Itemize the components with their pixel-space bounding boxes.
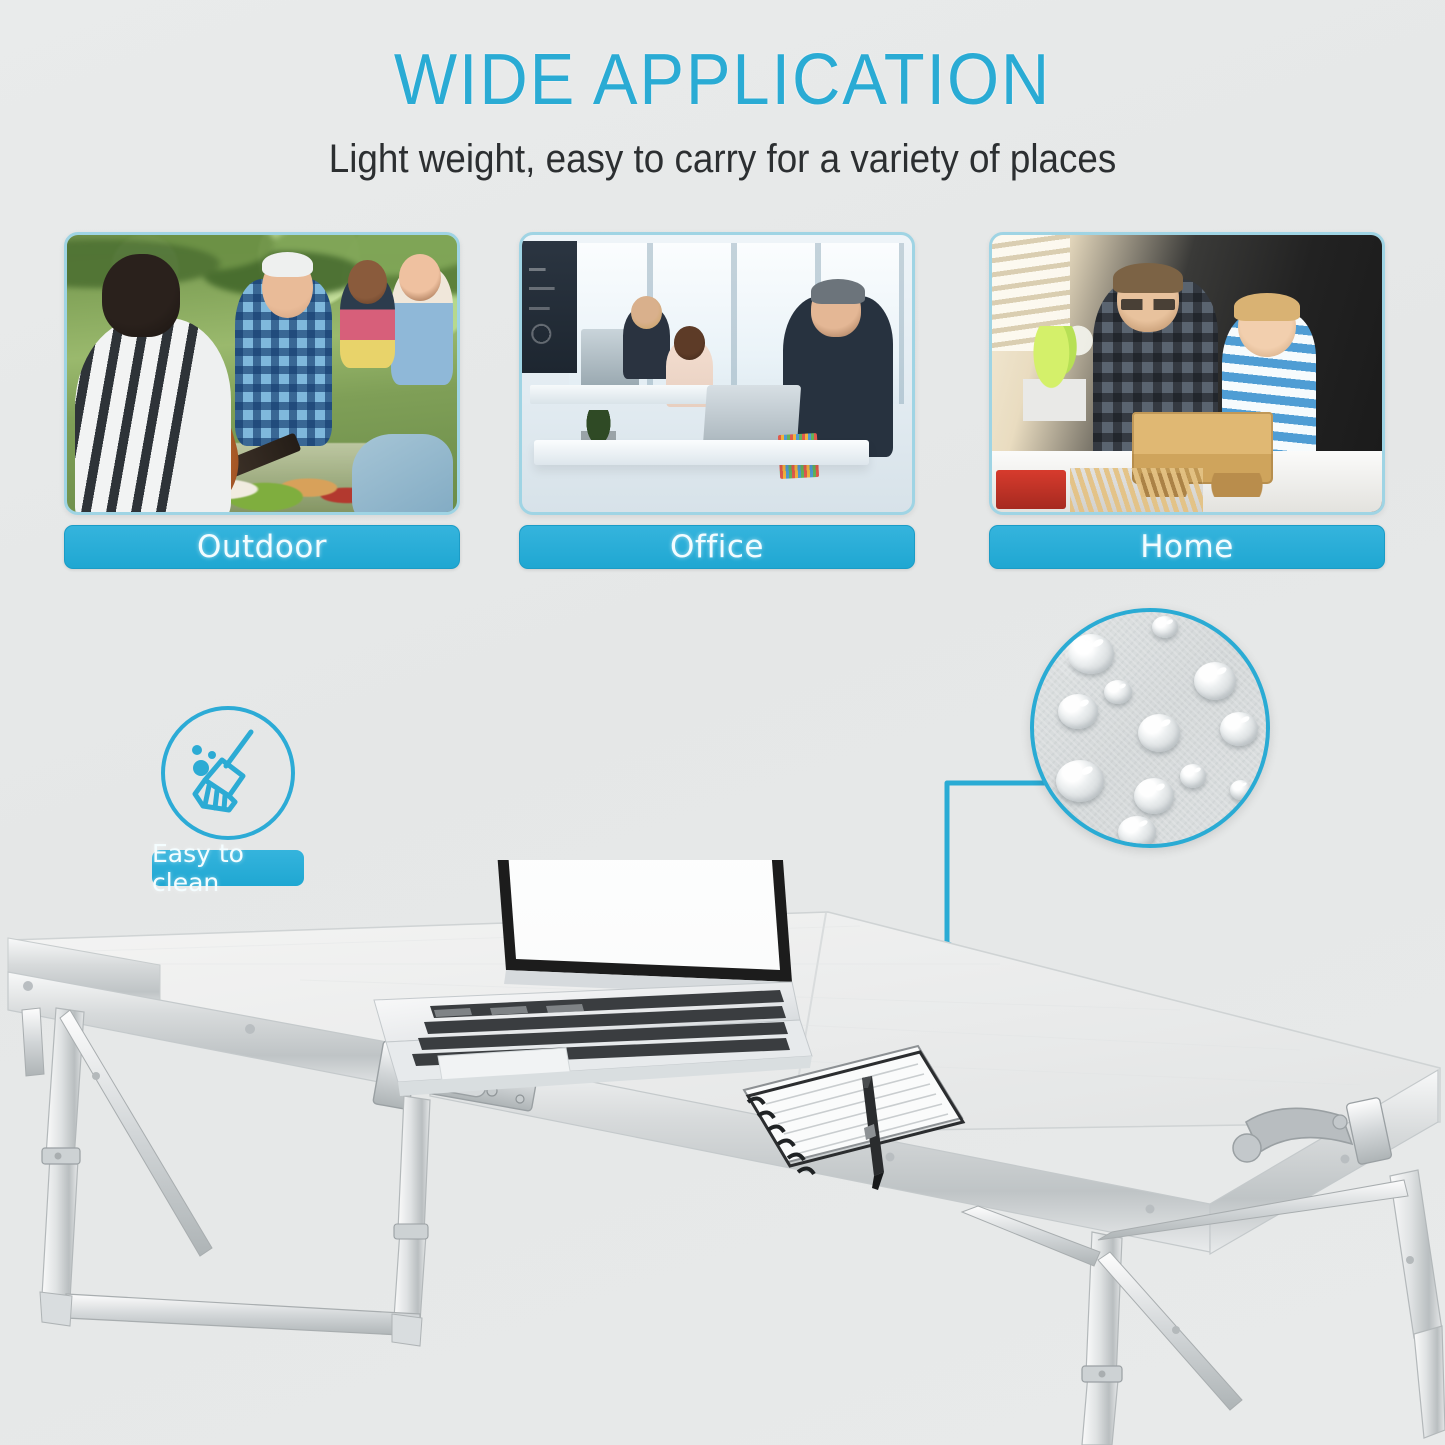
surface-zoom-circle xyxy=(1030,608,1270,848)
infographic-canvas: WIDE APPLICATION Light weight, easy to c… xyxy=(0,0,1445,1445)
folding-table-product-photo xyxy=(0,860,1445,1445)
